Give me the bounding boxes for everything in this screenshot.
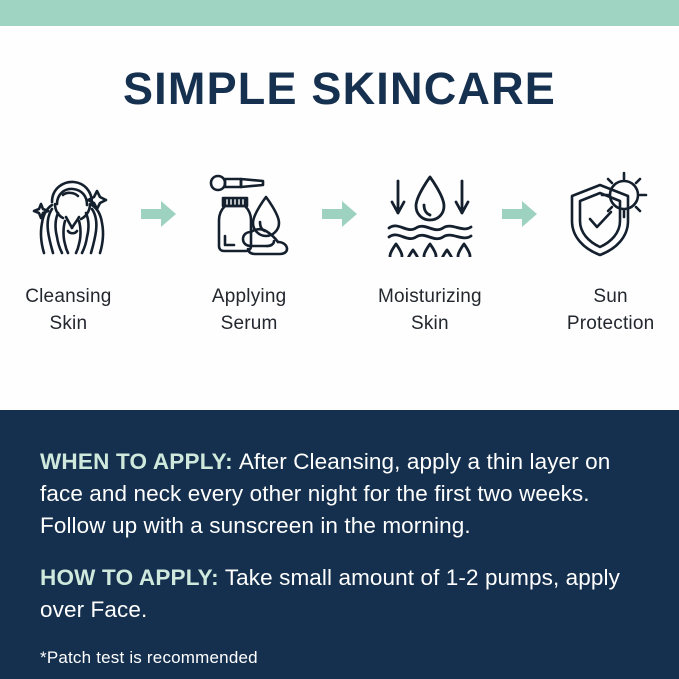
step-label: Moisturizing Skin — [378, 283, 482, 337]
step-label: Sun Protection — [567, 283, 655, 337]
instructions-panel: WHEN TO APPLY:After Cleansing, apply a t… — [0, 410, 679, 679]
step-applying-serum: Applying Serum — [181, 166, 318, 337]
step-icon-container — [564, 166, 658, 261]
step-cleansing-skin: Cleansing Skin — [0, 166, 137, 337]
arrow-right-icon — [502, 199, 538, 229]
how-to-apply-paragraph: HOW TO APPLY: Take small amount of 1-2 p… — [40, 562, 639, 626]
step-icon-container — [382, 166, 478, 261]
step-icon-container — [22, 166, 114, 261]
step-label-line2: Protection — [567, 313, 655, 334]
step-moisturizing-skin: Moisturizing Skin — [362, 166, 499, 337]
arrow-cell-1 — [137, 166, 181, 261]
step-label-line2: Skin — [49, 313, 87, 334]
step-label-line2: Serum — [221, 313, 278, 334]
water-droplet-absorption-icon — [382, 171, 478, 257]
when-to-apply-paragraph: WHEN TO APPLY:After Cleansing, apply a t… — [40, 446, 639, 542]
face-washing-icon — [22, 171, 114, 257]
arrow-right-icon — [322, 199, 358, 229]
upper-section: SIMPLE SKINCARE — [0, 26, 679, 410]
when-to-apply-label: WHEN TO APPLY: — [40, 449, 233, 474]
step-label-line1: Cleansing — [25, 286, 111, 307]
step-label: Applying Serum — [212, 283, 286, 337]
sun-shield-check-icon — [564, 169, 658, 259]
step-sun-protection: Sun Protection — [542, 166, 679, 337]
arrow-cell-2 — [318, 166, 362, 261]
top-accent-bar — [0, 0, 679, 26]
step-label-line1: Applying — [212, 286, 286, 307]
steps-row: Cleansing Skin — [0, 166, 679, 337]
patch-test-footnote: *Patch test is recommended — [40, 648, 639, 668]
step-label: Cleansing Skin — [25, 283, 111, 337]
step-label-line1: Moisturizing — [378, 286, 482, 307]
arrow-right-icon — [141, 199, 177, 229]
arrow-cell-3 — [498, 166, 542, 261]
page-title: SIMPLE SKINCARE — [0, 26, 679, 115]
step-label-line1: Sun — [593, 286, 627, 307]
step-icon-container — [201, 166, 297, 261]
infographic-page: SIMPLE SKINCARE — [0, 0, 679, 679]
serum-dropper-bottle-hand-icon — [201, 170, 297, 258]
how-to-apply-label: HOW TO APPLY: — [40, 565, 219, 590]
step-label-line2: Skin — [411, 313, 449, 334]
